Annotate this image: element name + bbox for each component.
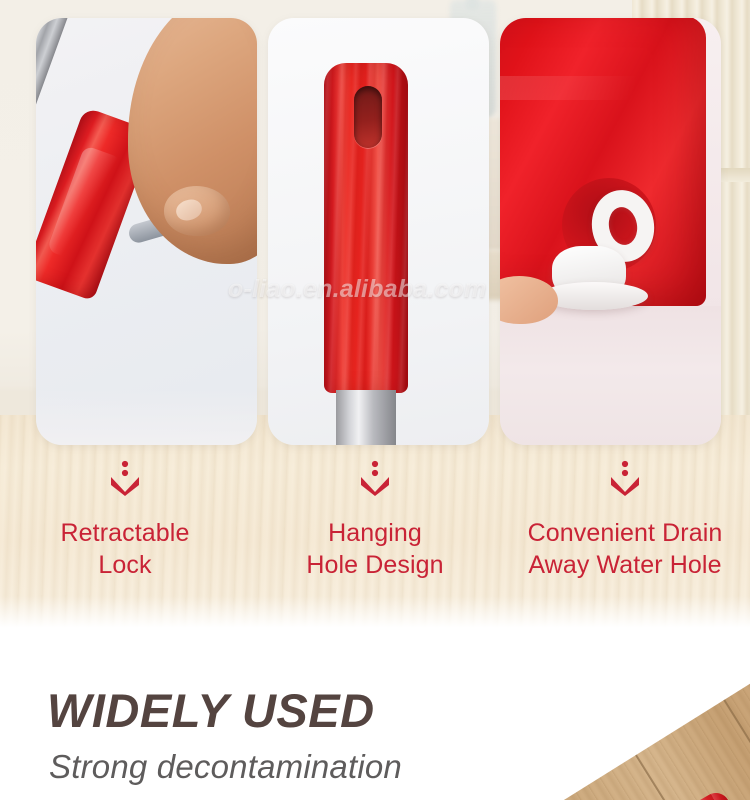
photo-panel-retractable-lock (36, 18, 257, 445)
feature-item-drain-hole: Convenient Drain Away Water Hole (500, 452, 750, 627)
photo-panel-hanging-hole (268, 18, 489, 445)
mop-head-shape (638, 788, 741, 800)
chevron-down-with-dots-icon (358, 460, 392, 501)
photo-panel-drain-hole (500, 18, 721, 445)
product-feature-image: o-liao.en.alibaba.com Retractable Lock (0, 0, 750, 800)
photo-panel-group (0, 0, 750, 450)
panel-1-floor-shape (36, 389, 257, 445)
panel-3-floor-shape (500, 306, 721, 445)
banner-title: WIDELY USED (47, 683, 375, 738)
feature-caption-label: Convenient Drain Away Water Hole (528, 517, 723, 581)
feature-caption-row: Retractable Lock Hanging Hole Design (0, 452, 750, 627)
feature-item-retractable-lock: Retractable Lock (0, 452, 250, 627)
feature-caption-label: Hanging Hole Design (306, 517, 443, 581)
hanging-hole-shape (354, 86, 382, 148)
banner-subtitle: Strong decontamination (49, 748, 402, 786)
feature-section: o-liao.en.alibaba.com Retractable Lock (0, 0, 750, 632)
feature-item-hanging-hole: Hanging Hole Design (250, 452, 500, 627)
metal-shaft-shape (336, 390, 396, 445)
feature-caption-label: Retractable Lock (61, 517, 190, 581)
chevron-down-with-dots-icon (608, 460, 642, 501)
chevron-down-with-dots-icon (108, 460, 142, 501)
